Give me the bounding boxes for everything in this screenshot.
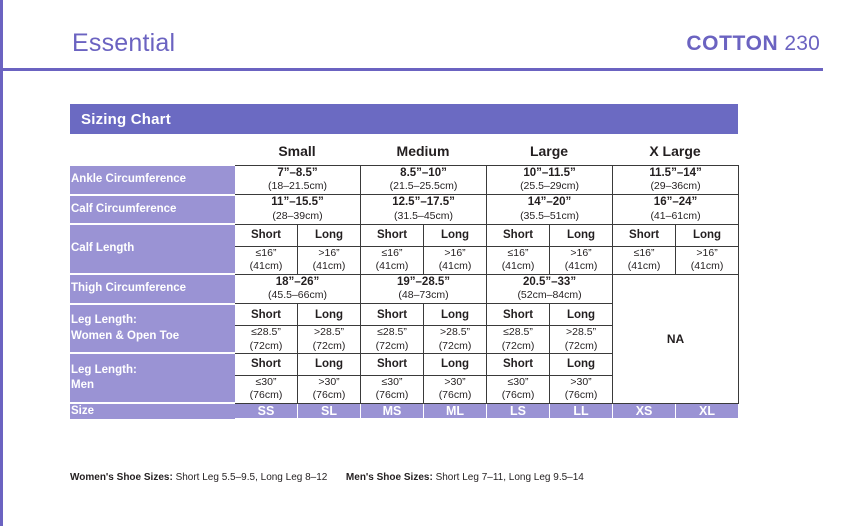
cell-value-metric: (76cm) — [361, 389, 423, 402]
cell-leg-women-4: ≤28.5” (72cm) — [487, 326, 550, 354]
subheader-legm-large-long: Long — [550, 353, 613, 375]
subheader-calf-medium-long: Long — [424, 224, 487, 246]
cell-value-metric: (72cm) — [235, 340, 297, 353]
size-group-large: Large — [486, 143, 612, 164]
subheader-legm-medium-short: Short — [361, 353, 424, 375]
cell-value-main: >16” — [298, 247, 360, 260]
cell-leg-women-3: >28.5” (72cm) — [424, 326, 487, 354]
row-label-size: Size — [71, 403, 235, 418]
cell-value-metric: (72cm) — [487, 340, 549, 353]
cell-value-main: ≤16” — [487, 247, 549, 260]
cell-value-main: 10”–11.5” — [487, 166, 612, 181]
cell-value-main: 14”–20” — [487, 195, 612, 210]
cell-value-metric: (41cm) — [235, 260, 297, 273]
subheader-legw-large-long: Long — [550, 304, 613, 326]
cell-value-metric: (52cm–84cm) — [487, 289, 612, 303]
cell-leg-men-0: ≤30” (76cm) — [235, 375, 298, 403]
cell-value-metric: (41cm) — [487, 260, 549, 273]
size-group-small: Small — [234, 143, 360, 164]
size-code-sl: SL — [298, 403, 361, 418]
subheader-legm-large-short: Short — [487, 353, 550, 375]
cell-value-metric: (31.5–45cm) — [361, 210, 486, 224]
table-row-calf-length-subheader: Calf Length Short Long Short Long Short … — [71, 224, 739, 246]
cell-value-main: >30” — [298, 376, 360, 389]
cell-value-metric: (35.5–51cm) — [487, 210, 612, 224]
size-group-medium: Medium — [360, 143, 486, 164]
cell-calf-length-4: ≤16” (41cm) — [487, 246, 550, 274]
cell-value-main: 16”–24” — [613, 195, 738, 210]
subheader-calf-small-long: Long — [298, 224, 361, 246]
cell-calf-circ-large: 14”–20” (35.5–51cm) — [487, 195, 613, 225]
header-divider — [3, 68, 823, 71]
cell-value-metric: (76cm) — [235, 389, 297, 402]
cell-value-main: ≤16” — [613, 247, 675, 260]
page-title: Essential — [72, 29, 175, 58]
cell-thigh-large: 20.5”–33” (52cm–84cm) — [487, 274, 613, 304]
subheader-calf-xlarge-long: Long — [676, 224, 739, 246]
row-label-thigh-circumference: Thigh Circumference — [71, 274, 235, 304]
size-code-ml: ML — [424, 403, 487, 418]
size-code-xl: XL — [676, 403, 739, 418]
cell-value-metric: (28–39cm) — [235, 210, 360, 224]
footnote-women-label: Women's Shoe Sizes: — [70, 472, 173, 483]
cell-ankle-medium: 8.5”–10” (21.5–25.5cm) — [361, 165, 487, 195]
cell-value-main: 18”–26” — [235, 275, 360, 290]
cell-value-main: 11”–15.5” — [235, 195, 360, 210]
cell-leg-women-5: >28.5” (72cm) — [550, 326, 613, 354]
cell-thigh-medium: 19”–28.5” (48–73cm) — [361, 274, 487, 304]
cell-value-metric: (21.5–25.5cm) — [361, 180, 486, 194]
cell-calf-length-0: ≤16” (41cm) — [235, 246, 298, 274]
cell-value-main: 20.5”–33” — [487, 275, 612, 290]
cell-value-main: ≤28.5” — [361, 326, 423, 339]
cell-value-main: >16” — [550, 247, 612, 260]
row-label-calf-length: Calf Length — [71, 224, 235, 274]
cell-value-metric: (41cm) — [550, 260, 612, 273]
cell-leg-women-1: >28.5” (72cm) — [298, 326, 361, 354]
subheader-legw-large-short: Short — [487, 304, 550, 326]
cell-value-main: 12.5”–17.5” — [361, 195, 486, 210]
footnote-women-value: Short Leg 5.5–9.5, Long Leg 8–12 — [176, 472, 328, 483]
cell-value-main: >30” — [424, 376, 486, 389]
subheader-legw-medium-short: Short — [361, 304, 424, 326]
sizing-table: Ankle Circumference 7”–8.5” (18–21.5cm) … — [70, 164, 739, 419]
cell-value-metric: (41–61cm) — [613, 210, 738, 224]
cell-calf-length-5: >16” (41cm) — [550, 246, 613, 274]
size-code-ms: MS — [361, 403, 424, 418]
cell-value-main: >30” — [550, 376, 612, 389]
table-row-ankle-circumference: Ankle Circumference 7”–8.5” (18–21.5cm) … — [71, 165, 739, 195]
cell-calf-length-1: >16” (41cm) — [298, 246, 361, 274]
table-row-thigh-circumference: Thigh Circumference 18”–26” (45.5–66cm) … — [71, 274, 739, 304]
cell-value-main: ≤30” — [487, 376, 549, 389]
cell-value-metric: (72cm) — [550, 340, 612, 353]
cell-value-metric: (41cm) — [676, 260, 738, 273]
cell-value-metric: (29–36cm) — [613, 180, 738, 194]
cell-value-metric: (72cm) — [424, 340, 486, 353]
cell-leg-women-0: ≤28.5” (72cm) — [235, 326, 298, 354]
row-label-ankle-circumference: Ankle Circumference — [71, 165, 235, 195]
cell-leg-men-4: ≤30” (76cm) — [487, 375, 550, 403]
cell-value-metric: (76cm) — [298, 389, 360, 402]
cell-xlarge-not-available: NA — [613, 274, 739, 403]
cell-ankle-large: 10”–11.5” (25.5–29cm) — [487, 165, 613, 195]
cell-value-main: >16” — [424, 247, 486, 260]
brand-number: 230 — [784, 32, 820, 55]
size-code-xs: XS — [613, 403, 676, 418]
page-header: Essential COTTON 230 — [3, 0, 850, 72]
subheader-legw-small-long: Long — [298, 304, 361, 326]
cell-calf-length-6: ≤16” (41cm) — [613, 246, 676, 274]
cell-value-main: ≤16” — [361, 247, 423, 260]
cell-value-metric: (72cm) — [361, 340, 423, 353]
cell-value-metric: (76cm) — [424, 389, 486, 402]
cell-value-main: ≤30” — [361, 376, 423, 389]
cell-value-metric: (41cm) — [361, 260, 423, 273]
row-label-leg-length-women: Leg Length: Women & Open Toe — [71, 304, 235, 354]
subheader-calf-large-long: Long — [550, 224, 613, 246]
row-label-line-1: Leg Length: — [71, 364, 137, 376]
cell-value-main: >28.5” — [298, 326, 360, 339]
subheader-legw-medium-long: Long — [424, 304, 487, 326]
cell-leg-men-3: >30” (76cm) — [424, 375, 487, 403]
row-label-line-2: Men — [71, 379, 94, 391]
page-left-accent-bar — [0, 0, 3, 526]
subheader-calf-small-short: Short — [235, 224, 298, 246]
cell-value-metric: (25.5–29cm) — [487, 180, 612, 194]
size-group-header-row: Small Medium Large X Large — [70, 134, 738, 164]
brand-name: COTTON — [686, 32, 778, 55]
cell-value-main: 11.5”–14” — [613, 166, 738, 181]
subheader-calf-large-short: Short — [487, 224, 550, 246]
cell-leg-men-2: ≤30” (76cm) — [361, 375, 424, 403]
brand-logo: COTTON 230 — [686, 32, 820, 56]
subheader-legm-medium-long: Long — [424, 353, 487, 375]
cell-value-metric: (76cm) — [487, 389, 549, 402]
cell-leg-men-1: >30” (76cm) — [298, 375, 361, 403]
cell-value-metric: (41cm) — [613, 260, 675, 273]
cell-value-metric: (72cm) — [298, 340, 360, 353]
table-row-size-codes: Size SS SL MS ML LS LL XS XL — [71, 403, 739, 418]
cell-calf-circ-medium: 12.5”–17.5” (31.5–45cm) — [361, 195, 487, 225]
cell-value-metric: (48–73cm) — [361, 289, 486, 303]
shoe-size-footnote: Women's Shoe Sizes: Short Leg 5.5–9.5, L… — [70, 472, 584, 483]
subheader-calf-xlarge-short: Short — [613, 224, 676, 246]
subheader-legm-small-long: Long — [298, 353, 361, 375]
sizing-chart: Sizing Chart Small Medium Large X Large … — [70, 104, 738, 419]
row-label-line-1: Leg Length: — [71, 314, 137, 326]
table-row-calf-circumference: Calf Circumference 11”–15.5” (28–39cm) 1… — [71, 195, 739, 225]
cell-value-main: >16” — [676, 247, 738, 260]
size-code-ss: SS — [235, 403, 298, 418]
cell-value-metric: (18–21.5cm) — [235, 180, 360, 194]
cell-value-main: 19”–28.5” — [361, 275, 486, 290]
footnote-men-label: Men's Shoe Sizes: — [346, 472, 433, 483]
cell-value-main: 8.5”–10” — [361, 166, 486, 181]
cell-leg-women-2: ≤28.5” (72cm) — [361, 326, 424, 354]
footnote-men-value: Short Leg 7–11, Long Leg 9.5–14 — [436, 472, 584, 483]
cell-ankle-small: 7”–8.5” (18–21.5cm) — [235, 165, 361, 195]
cell-value-metric: (41cm) — [298, 260, 360, 273]
cell-thigh-small: 18”–26” (45.5–66cm) — [235, 274, 361, 304]
sizing-chart-banner: Sizing Chart — [70, 104, 738, 134]
subheader-legm-small-short: Short — [235, 353, 298, 375]
cell-value-metric: (76cm) — [550, 389, 612, 402]
row-label-calf-circumference: Calf Circumference — [71, 195, 235, 225]
cell-value-metric: (41cm) — [424, 260, 486, 273]
cell-value-main: ≤28.5” — [235, 326, 297, 339]
cell-value-metric: (45.5–66cm) — [235, 289, 360, 303]
row-label-line-2: Women & Open Toe — [71, 330, 179, 342]
cell-ankle-xlarge: 11.5”–14” (29–36cm) — [613, 165, 739, 195]
row-label-leg-length-men: Leg Length: Men — [71, 353, 235, 403]
cell-value-main: ≤16” — [235, 247, 297, 260]
cell-value-main: 7”–8.5” — [235, 166, 360, 181]
subheader-legw-small-short: Short — [235, 304, 298, 326]
cell-value-main: ≤28.5” — [487, 326, 549, 339]
cell-leg-men-5: >30” (76cm) — [550, 375, 613, 403]
size-group-xlarge: X Large — [612, 143, 738, 164]
cell-calf-circ-xlarge: 16”–24” (41–61cm) — [613, 195, 739, 225]
cell-calf-circ-small: 11”–15.5” (28–39cm) — [235, 195, 361, 225]
cell-calf-length-2: ≤16” (41cm) — [361, 246, 424, 274]
cell-calf-length-7: >16” (41cm) — [676, 246, 739, 274]
cell-value-main: >28.5” — [424, 326, 486, 339]
subheader-calf-medium-short: Short — [361, 224, 424, 246]
sizing-chart-banner-label: Sizing Chart — [81, 111, 171, 128]
size-code-ll: LL — [550, 403, 613, 418]
size-code-ls: LS — [487, 403, 550, 418]
cell-value-main: >28.5” — [550, 326, 612, 339]
cell-calf-length-3: >16” (41cm) — [424, 246, 487, 274]
cell-value-main: ≤30” — [235, 376, 297, 389]
